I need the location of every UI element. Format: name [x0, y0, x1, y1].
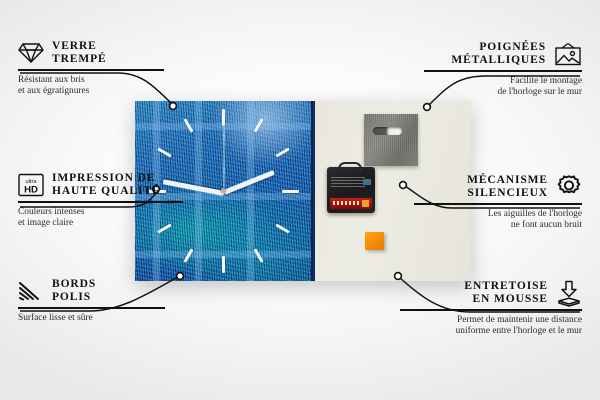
wall-mount-frame-icon [554, 42, 582, 66]
second-hand [224, 124, 225, 192]
callout-divider [18, 307, 165, 309]
battery-label-band [333, 201, 359, 205]
callout-title: VERRE TREMPÉ [52, 40, 107, 66]
clock-tick [282, 190, 299, 193]
callout-divider [424, 70, 582, 72]
hanger-keyhole-slot [373, 127, 402, 135]
callout-subtitle: Résistant aux bris et aux égratignures [18, 75, 178, 98]
movement-connector [363, 179, 371, 185]
diamond-icon [18, 42, 44, 64]
callout-title: IMPRESSION DE HAUTE QUALITÉ [52, 172, 161, 198]
callout-bords-polis[interactable]: BORDS POLIS Surface lisse et sûre [18, 278, 178, 324]
battery-positive-terminal [362, 200, 369, 207]
battery [330, 198, 372, 209]
ultra-hd-icon: ultra HD [18, 173, 44, 197]
callout-poignees-metalliques[interactable]: POIGNÉES MÉTALLIQUES Facilite le montage… [422, 41, 582, 98]
polished-edges-icon [18, 280, 44, 302]
callout-divider [400, 309, 582, 311]
callout-impression-haute-qualite[interactable]: ultra HD IMPRESSION DE HAUTE QUALITÉ Cou… [18, 172, 194, 229]
callout-subtitle: Les aiguilles de l'horloge ne font aucun… [412, 209, 582, 232]
callout-divider [18, 69, 164, 71]
callout-subtitle: Facilite le montage de l'horloge sur le … [422, 76, 582, 99]
movement-label [331, 175, 365, 187]
callout-subtitle: Permet de maintenir une distance uniform… [398, 315, 582, 338]
callout-divider [414, 203, 582, 205]
callout-mecanisme-silencieux[interactable]: MÉCANISME SILENCIEUX Les aiguilles de l'… [412, 174, 582, 231]
infographic-canvas: VERRE TREMPÉ Résistant aux bris et aux é… [0, 0, 600, 400]
hands-pin [221, 188, 226, 193]
quartz-movement [327, 167, 375, 213]
callout-entretoise-en-mousse[interactable]: ENTRETOISE EN MOUSSE Permet de maintenir… [398, 280, 582, 337]
callout-title: POIGNÉES MÉTALLIQUES [451, 41, 546, 67]
callout-title: BORDS POLIS [52, 278, 96, 304]
callout-subtitle: Surface lisse et sûre [18, 313, 178, 324]
callout-title: ENTRETOISE EN MOUSSE [464, 280, 548, 306]
foam-spacer [365, 232, 384, 250]
foam-spacer-arrow-icon [556, 280, 582, 306]
movement-hanger-loop [338, 162, 362, 173]
callout-title: MÉCANISME SILENCIEUX [467, 174, 548, 200]
gear-icon [556, 174, 582, 200]
svg-text:HD: HD [24, 185, 38, 196]
callout-verre-trempe[interactable]: VERRE TREMPÉ Résistant aux bris et aux é… [18, 40, 178, 97]
metal-hanger-plate [364, 114, 418, 166]
clock-tick [222, 256, 225, 273]
callout-divider [18, 201, 183, 203]
callout-subtitle: Couleurs intenses et image claire [18, 207, 194, 230]
